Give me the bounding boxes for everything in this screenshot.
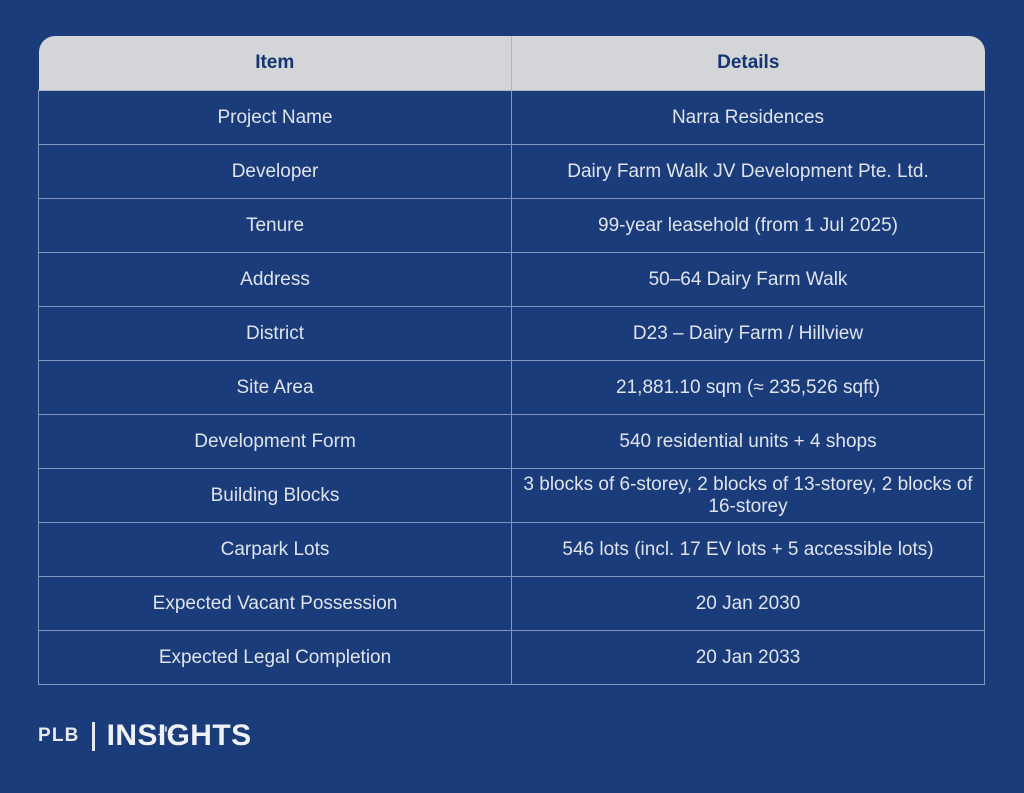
table-header-row: Item Details xyxy=(39,36,985,91)
table-row: Expected Legal Completion20 Jan 2033 xyxy=(39,631,985,685)
table-header: Item Details xyxy=(39,36,985,91)
column-header-details: Details xyxy=(512,36,985,91)
cell-item: Expected Legal Completion xyxy=(39,631,512,685)
cell-details: 99-year leasehold (from 1 Jul 2025) xyxy=(512,199,985,253)
cell-details: 20 Jan 2033 xyxy=(512,631,985,685)
plb-insights-logo: PLB INSIGHTS xyxy=(38,719,252,753)
table-row: Carpark Lots546 lots (incl. 17 EV lots +… xyxy=(39,523,985,577)
table-row: Tenure99-year leasehold (from 1 Jul 2025… xyxy=(39,199,985,253)
brand-insights-label: INSIGHTS xyxy=(107,719,252,752)
brand-plb-text: PLB xyxy=(38,725,80,747)
table-row: Development Form540 residential units + … xyxy=(39,415,985,469)
cell-details: Dairy Farm Walk JV Development Pte. Ltd. xyxy=(512,145,985,199)
project-spec-table: Item Details Project NameNarra Residence… xyxy=(38,36,985,685)
cell-item: Expected Vacant Possession xyxy=(39,577,512,631)
cell-item: Project Name xyxy=(39,91,512,145)
table-row: Expected Vacant Possession20 Jan 2030 xyxy=(39,577,985,631)
table-row: Address50–64 Dairy Farm Walk xyxy=(39,253,985,307)
cell-details: 3 blocks of 6-storey, 2 blocks of 13-sto… xyxy=(512,469,985,523)
project-spec-table-container: Item Details Project NameNarra Residence… xyxy=(38,36,985,685)
cell-details: 540 residential units + 4 shops xyxy=(512,415,985,469)
cell-details: D23 – Dairy Farm / Hillview xyxy=(512,307,985,361)
cell-item: Development Form xyxy=(39,415,512,469)
table-row: Building Blocks3 blocks of 6-storey, 2 b… xyxy=(39,469,985,523)
cell-item: Site Area xyxy=(39,361,512,415)
brand-insights-text: INSIGHTS xyxy=(107,719,252,753)
brand-divider xyxy=(92,722,95,751)
cell-item: Carpark Lots xyxy=(39,523,512,577)
table-row: DistrictD23 – Dairy Farm / Hillview xyxy=(39,307,985,361)
table-row: Site Area21,881.10 sqm (≈ 235,526 sqft) xyxy=(39,361,985,415)
table-row: Project NameNarra Residences xyxy=(39,91,985,145)
cell-item: District xyxy=(39,307,512,361)
table-row: DeveloperDairy Farm Walk JV Development … xyxy=(39,145,985,199)
table-body: Project NameNarra ResidencesDeveloperDai… xyxy=(39,91,985,685)
cell-item: Address xyxy=(39,253,512,307)
cell-item: Tenure xyxy=(39,199,512,253)
column-header-item: Item xyxy=(39,36,512,91)
cell-details: Narra Residences xyxy=(512,91,985,145)
cell-item: Developer xyxy=(39,145,512,199)
cell-details: 546 lots (incl. 17 EV lots + 5 accessibl… xyxy=(512,523,985,577)
cell-details: 20 Jan 2030 xyxy=(512,577,985,631)
sparkle-icon xyxy=(158,714,174,728)
cell-details: 50–64 Dairy Farm Walk xyxy=(512,253,985,307)
cell-item: Building Blocks xyxy=(39,469,512,523)
cell-details: 21,881.10 sqm (≈ 235,526 sqft) xyxy=(512,361,985,415)
